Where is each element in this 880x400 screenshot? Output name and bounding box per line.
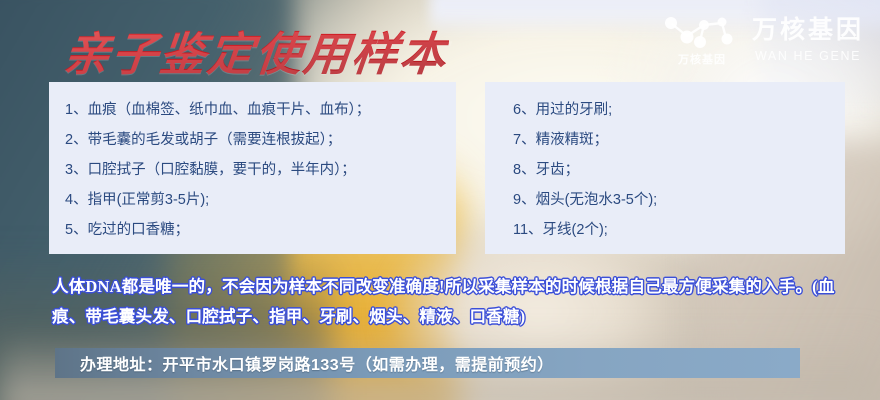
logo-mark-label: 万核基因 bbox=[666, 51, 738, 67]
list-item: 6、用过的牙刷; bbox=[513, 103, 845, 118]
list-item: 11、牙线(2个); bbox=[513, 223, 845, 238]
poster-root: 亲子鉴定使用样本 万核基因 bbox=[0, 0, 880, 400]
list-item: 9、烟头(无泡水3-5个); bbox=[513, 193, 845, 208]
brand-wordmark: 万核基因 WAN HE GENE bbox=[752, 18, 864, 63]
address-bar: 办理地址：开平市水口镇罗岗路133号（如需办理，需提前预约） bbox=[55, 348, 800, 378]
list-item: 8、牙齿； bbox=[513, 163, 845, 178]
sample-list-card-left: 1、血痕（血棉签、纸巾血、血痕干片、血布）； 2、带毛囊的毛发或胡子（需要连根拔… bbox=[49, 82, 456, 254]
list-item: 1、血痕（血棉签、纸巾血、血痕干片、血布）； bbox=[65, 103, 456, 118]
address-text: 办理地址：开平市水口镇罗岗路133号（如需办理，需提前预约） bbox=[55, 351, 554, 375]
list-item: 2、带毛囊的毛发或胡子（需要连根拔起）； bbox=[65, 133, 456, 148]
sample-list-card-right: 6、用过的牙刷; 7、精液精斑； 8、牙齿； 9、烟头(无泡水3-5个); 11… bbox=[485, 82, 845, 254]
sample-list-left: 1、血痕（血棉签、纸巾血、血痕干片、血布）； 2、带毛囊的毛发或胡子（需要连根拔… bbox=[49, 82, 456, 238]
molecule-icon: 万核基因 bbox=[660, 14, 738, 66]
brand-name-en: WAN HE GENE bbox=[755, 50, 861, 63]
dna-note-text: 人体DNA都是唯一的，不会因为样本不同改变准确度!所以采集样本的时候根据自己最方… bbox=[52, 272, 842, 332]
list-item: 3、口腔拭子（口腔黏膜，要干的，半年内）； bbox=[65, 163, 456, 178]
sample-list-right: 6、用过的牙刷; 7、精液精斑； 8、牙齿； 9、烟头(无泡水3-5个); 11… bbox=[485, 82, 845, 238]
list-item: 4、指甲(正常剪3-5片); bbox=[65, 193, 456, 208]
brand-name-cn: 万核基因 bbox=[752, 18, 864, 43]
brand-logo: 万核基因 万核基因 WAN HE GENE bbox=[660, 14, 864, 66]
list-item: 7、精液精斑； bbox=[513, 133, 845, 148]
list-item: 5、吃过的口香糖； bbox=[65, 223, 456, 238]
page-title: 亲子鉴定使用样本 bbox=[61, 18, 452, 84]
